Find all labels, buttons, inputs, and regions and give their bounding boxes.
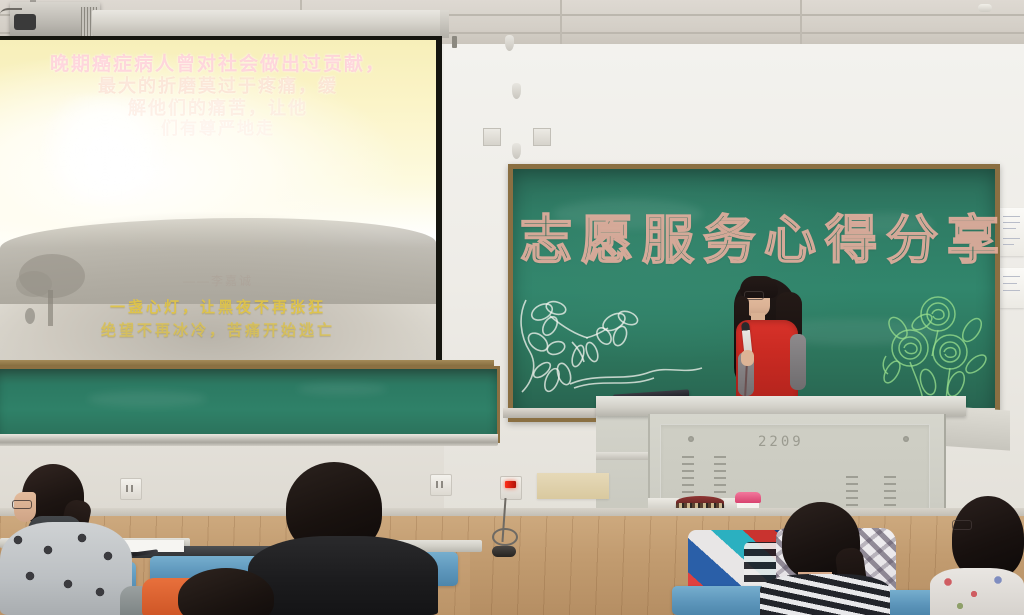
slide-line-2: 最大的折磨莫过于疼痛，缓 <box>0 76 436 97</box>
podium-room-number: 2209 <box>758 434 878 450</box>
slide-line-4: 们有尊严地走 <box>0 119 436 139</box>
audience-glasses-icon <box>12 500 32 509</box>
power-cord-loop <box>492 528 518 546</box>
slide-bottom-text: 一盏心灯，让黑夜不再张狂 绝望不再冰冷，苦痛开始逃亡 <box>0 297 436 342</box>
floor-power-adapter <box>492 546 516 557</box>
slide-bottom-line-1: 一盏心灯，让黑夜不再张狂 <box>0 297 436 320</box>
power-switch-box[interactable] <box>500 476 522 500</box>
projection-screen: 晚期癌症病人曾对社会做出过贡献， 最大的折磨莫过于疼痛，缓 解他们的痛苦，让他 … <box>0 40 436 360</box>
power-led-indicator <box>505 481 516 488</box>
audience-glasses-icon <box>952 520 972 530</box>
speaker-hand <box>741 350 754 366</box>
slide-line-3: 解他们的痛苦，让他 <box>0 98 436 119</box>
ceiling-sensor-icon <box>978 4 992 12</box>
slide-line-1: 晚期癌症病人曾对社会做出过贡献， <box>0 54 436 76</box>
classroom-photo: 晚期癌症病人曾对社会做出过贡献， 最大的折磨莫过于疼痛，缓 解他们的痛苦，让他 … <box>0 0 1024 615</box>
wall-outlet[interactable] <box>430 474 452 496</box>
projector-cable <box>0 8 22 24</box>
audience-torso <box>930 568 1024 615</box>
wall-plate <box>533 128 551 146</box>
podium-left-shelf <box>596 452 654 460</box>
wall-outlet[interactable] <box>120 478 142 500</box>
left-blackboard-chalk-tray <box>0 434 498 446</box>
wall-taped-paper <box>537 473 609 499</box>
roller-hook-icon <box>452 36 457 48</box>
cup-lid <box>735 492 761 503</box>
audience-torso <box>0 522 132 615</box>
wall-plate <box>483 128 501 146</box>
slide-bottom-line-2: 绝望不再冰冷，苦痛开始逃亡 <box>0 320 436 343</box>
left-blackboard <box>0 366 500 443</box>
podium-counter-top <box>596 396 966 416</box>
slide-title-text: 晚期癌症病人曾对社会做出过贡献， 最大的折磨莫过于疼痛，缓 解他们的痛苦，让他 … <box>0 54 436 139</box>
speaker-right-sleeve <box>790 334 806 390</box>
wall-mount-hook-icon <box>505 35 514 51</box>
wall-mount-hook-icon <box>512 143 521 159</box>
audience-torso <box>248 536 438 615</box>
blackboard-headline: 志愿服务心得分享 <box>520 198 990 273</box>
projection-screen-roller <box>92 10 442 36</box>
wall-notice <box>1000 268 1024 308</box>
roller-bracket <box>440 10 449 38</box>
podium-screw <box>688 436 694 442</box>
wall-mount-hook-icon <box>512 83 521 99</box>
slide-hill-silhouette <box>0 218 436 304</box>
slide-attribution: ——李嘉诚 <box>0 272 436 289</box>
podium-screw <box>903 436 909 442</box>
audience-torso <box>760 574 890 615</box>
